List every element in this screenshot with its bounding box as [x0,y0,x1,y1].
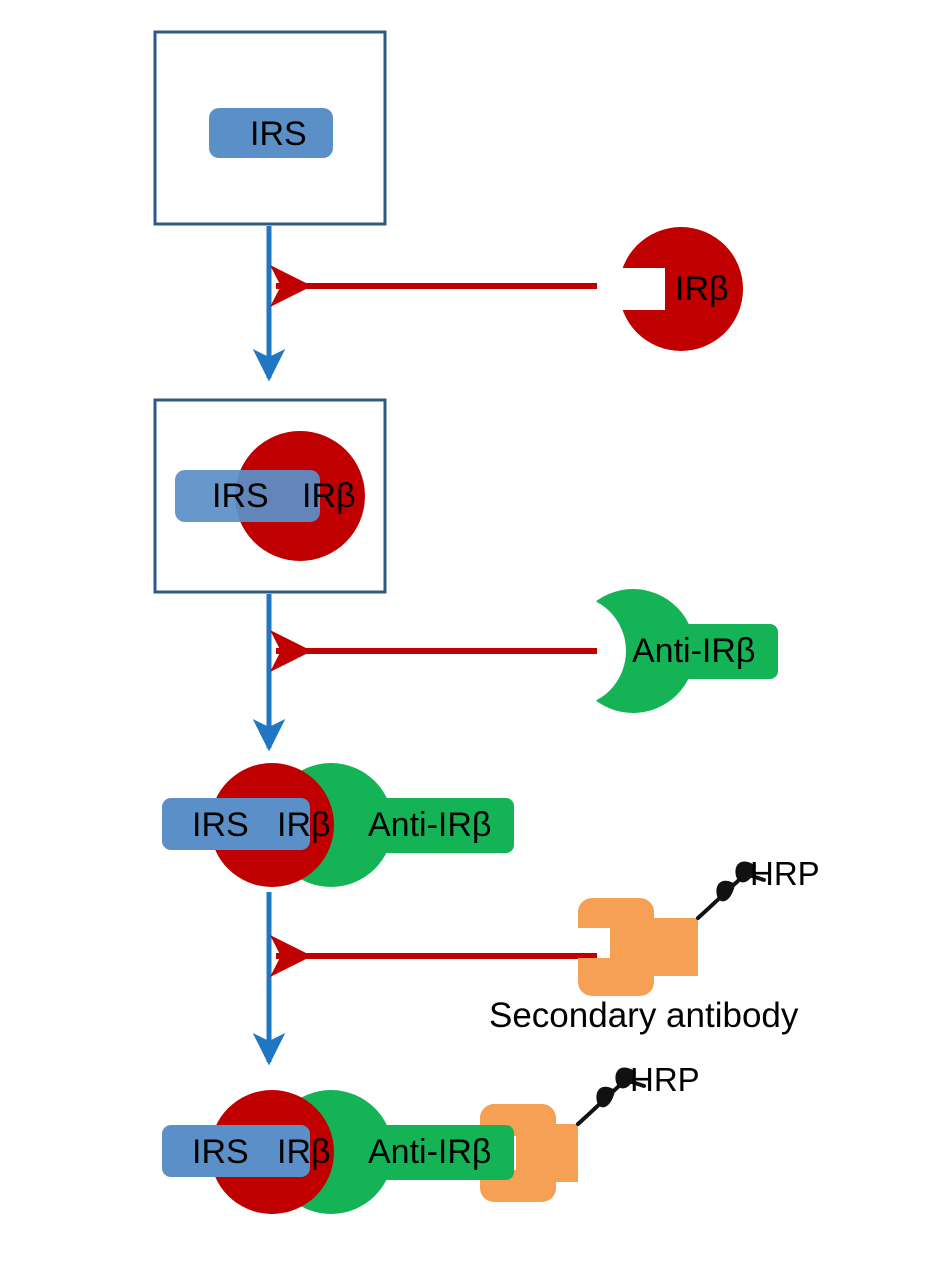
irs-label-step3: IRS [192,808,249,842]
anti-ir-beta-label-step4: Anti-IRβ [368,1135,491,1169]
secondary-antibody-reagent-shape [578,898,698,996]
ir-beta-label-step3: IRβ [277,808,331,842]
diagram-graphics [0,0,934,1272]
anti-ir-beta-label-reagent: Anti-IRβ [632,634,755,668]
irs-label-step2: IRS [212,479,269,513]
secondary-antibody-label: Secondary antibody [489,998,798,1033]
irs-label-step4: IRS [192,1135,249,1169]
ir-beta-label-reagent: IRβ [675,272,729,306]
anti-ir-beta-label-step3: Anti-IRβ [368,808,491,842]
ir-beta-label-step4: IRβ [277,1135,331,1169]
hrp-label-step4: HRP [630,1063,700,1096]
ir-beta-label-step2: IRβ [302,479,356,513]
irs-label-step1: IRS [250,117,307,151]
hrp-label-reagent: HRP [750,857,820,890]
diagram-canvas: IRS IRβ IRS IRβ Anti-IRβ IRS IRβ Anti-IR… [0,0,934,1272]
